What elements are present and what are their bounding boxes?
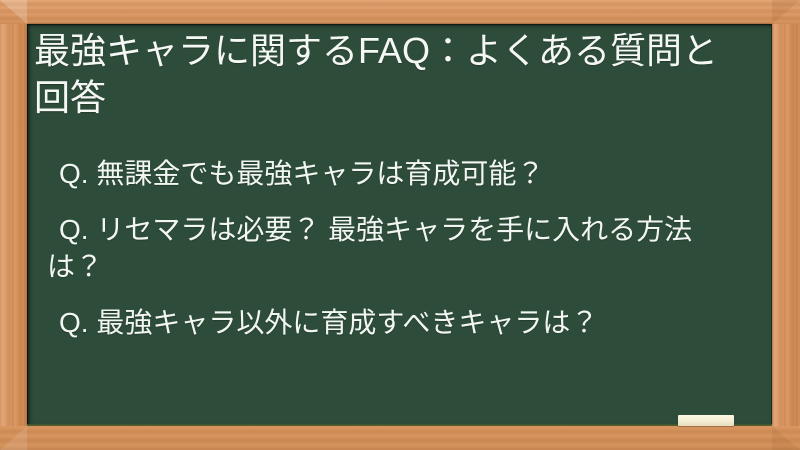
board-inner-shadow-left	[27, 24, 31, 425]
frame-corner-bottom-left	[0, 426, 27, 450]
frame-corner-top-left	[0, 0, 27, 24]
frame-corner-bottom-right	[772, 426, 800, 450]
frame-left-rail	[0, 0, 27, 450]
frame-top-rail	[0, 0, 800, 24]
faq-question-item: Q. 無課金でも最強キャラは育成可能？	[47, 155, 723, 192]
chalkboard-faq-screenshot: 最強キャラに関するFAQ：よくある質問と回答 Q. 無課金でも最強キャラは育成可…	[0, 0, 800, 450]
page-title: 最強キャラに関するFAQ：よくある質問と回答	[34, 27, 740, 121]
chalk-stick-icon	[678, 415, 734, 426]
frame-right-rail	[772, 0, 800, 450]
faq-question-list: Q. 無課金でも最強キャラは育成可能？ Q. リセマラは必要？ 最強キャラを手に…	[47, 155, 723, 341]
frame-bottom-ledge	[0, 426, 800, 450]
board-ledge-line	[27, 424, 772, 426]
faq-question-item: Q. 最強キャラ以外に育成すべきキャラは？	[47, 304, 723, 341]
frame-corner-top-right	[772, 0, 800, 24]
faq-question-item: Q. リセマラは必要？ 最強キャラを手に入れる方法は？	[47, 211, 723, 285]
